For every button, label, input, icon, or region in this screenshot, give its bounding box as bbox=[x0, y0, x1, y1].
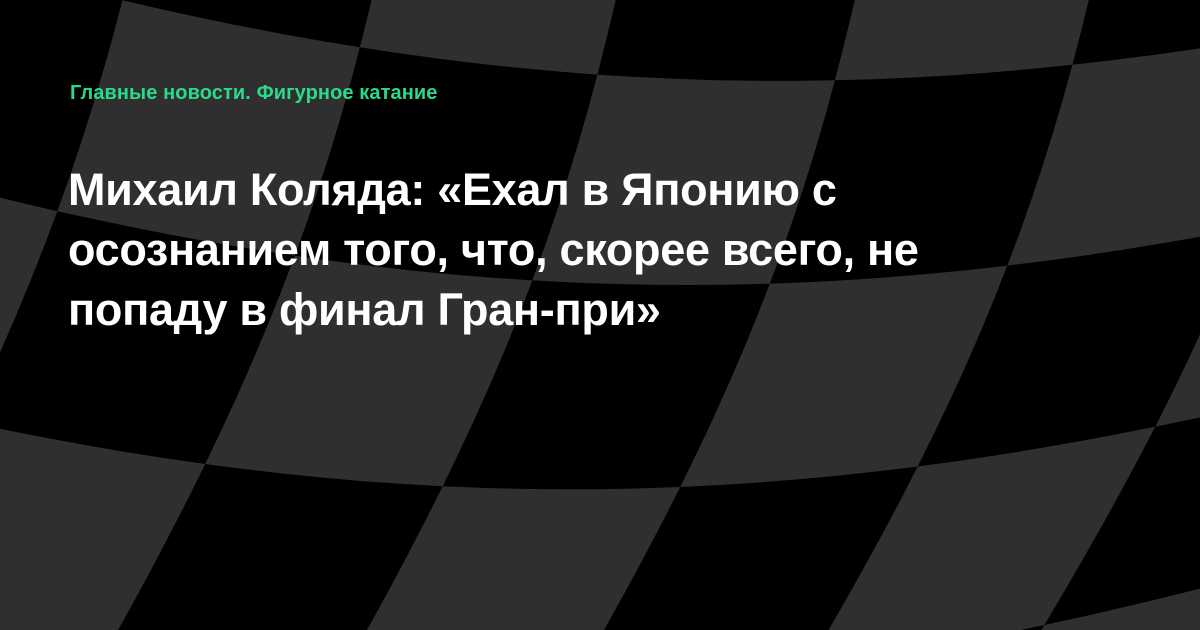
page-title: Михаил Коляда: «Ехал в Японию с осознани… bbox=[68, 160, 1078, 340]
headline-line-1: Михаил Коляда: «Ехал в Японию с bbox=[68, 160, 1078, 220]
kicker-label: Главные новости. Фигурное катание bbox=[70, 80, 438, 106]
headline-line-3: попаду в финал Гран-при» bbox=[68, 280, 1078, 340]
news-share-card: Главные новости. Фигурное катание Михаил… bbox=[0, 0, 1200, 630]
headline-line-2: осознанием того, что, скорее всего, не bbox=[68, 220, 1078, 280]
